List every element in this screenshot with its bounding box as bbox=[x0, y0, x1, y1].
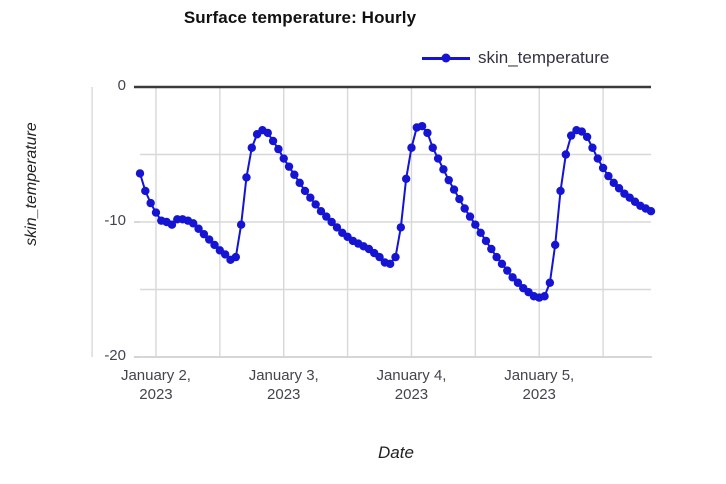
x-tick-label-line: January 5, bbox=[484, 366, 594, 385]
data-point-marker[interactable] bbox=[599, 164, 607, 172]
data-point-marker[interactable] bbox=[397, 223, 405, 231]
x-tick-label-line: January 4, bbox=[356, 366, 466, 385]
data-point-marker[interactable] bbox=[498, 260, 506, 268]
data-point-marker[interactable] bbox=[429, 144, 437, 152]
data-point-marker[interactable] bbox=[237, 221, 245, 229]
data-point-marker[interactable] bbox=[551, 241, 559, 249]
data-point-marker[interactable] bbox=[556, 187, 564, 195]
chart-figure: Surface temperature: Hourly skin_tempera… bbox=[0, 0, 726, 484]
data-point-marker[interactable] bbox=[604, 172, 612, 180]
y-tick-label: 0 bbox=[72, 77, 126, 94]
data-point-marker[interactable] bbox=[439, 165, 447, 173]
data-point-marker[interactable] bbox=[141, 187, 149, 195]
plot-area bbox=[0, 0, 726, 484]
x-tick-label-line: January 3, bbox=[229, 366, 339, 385]
data-point-marker[interactable] bbox=[476, 229, 484, 237]
data-point-marker[interactable] bbox=[546, 279, 554, 287]
x-tick-label: January 5,2023 bbox=[484, 366, 594, 404]
data-point-marker[interactable] bbox=[647, 207, 655, 215]
data-point-marker[interactable] bbox=[248, 144, 256, 152]
data-point-marker[interactable] bbox=[471, 221, 479, 229]
data-point-marker[interactable] bbox=[562, 150, 570, 158]
data-point-marker[interactable] bbox=[434, 154, 442, 162]
data-point-marker[interactable] bbox=[152, 208, 160, 216]
series-line bbox=[140, 126, 651, 297]
data-point-marker[interactable] bbox=[269, 137, 277, 145]
data-point-marker[interactable] bbox=[285, 162, 293, 170]
data-point-marker[interactable] bbox=[391, 253, 399, 261]
x-tick-label-line: 2023 bbox=[101, 385, 211, 404]
data-point-marker[interactable] bbox=[423, 129, 431, 137]
x-tick-label-line: 2023 bbox=[356, 385, 466, 404]
data-point-marker[interactable] bbox=[588, 144, 596, 152]
x-tick-label-line: 2023 bbox=[229, 385, 339, 404]
data-point-marker[interactable] bbox=[274, 145, 282, 153]
data-point-marker[interactable] bbox=[306, 194, 314, 202]
data-point-marker[interactable] bbox=[407, 144, 415, 152]
x-tick-label: January 2,2023 bbox=[101, 366, 211, 404]
data-point-marker[interactable] bbox=[301, 187, 309, 195]
data-point-marker[interactable] bbox=[503, 266, 511, 274]
x-tick-label-line: 2023 bbox=[484, 385, 594, 404]
data-point-marker[interactable] bbox=[594, 154, 602, 162]
data-point-marker[interactable] bbox=[455, 195, 463, 203]
data-point-marker[interactable] bbox=[450, 185, 458, 193]
series-skin-temperature bbox=[136, 122, 655, 302]
data-point-marker[interactable] bbox=[242, 173, 250, 181]
data-point-marker[interactable] bbox=[487, 245, 495, 253]
x-tick-label: January 4,2023 bbox=[356, 366, 466, 404]
y-tick-label: -20 bbox=[72, 347, 126, 364]
data-point-marker[interactable] bbox=[290, 171, 298, 179]
data-point-marker[interactable] bbox=[232, 253, 240, 261]
data-point-marker[interactable] bbox=[136, 169, 144, 177]
data-point-marker[interactable] bbox=[466, 212, 474, 220]
y-tick-label: -10 bbox=[72, 212, 126, 229]
data-point-marker[interactable] bbox=[386, 260, 394, 268]
x-tick-label: January 3,2023 bbox=[229, 366, 339, 404]
data-point-marker[interactable] bbox=[146, 199, 154, 207]
x-axis-title: Date bbox=[140, 443, 652, 463]
data-point-marker[interactable] bbox=[445, 176, 453, 184]
data-point-marker[interactable] bbox=[280, 154, 288, 162]
data-point-marker[interactable] bbox=[402, 175, 410, 183]
y-axis-title: skin_temperature bbox=[23, 104, 41, 264]
data-point-marker[interactable] bbox=[264, 129, 272, 137]
data-point-marker[interactable] bbox=[311, 200, 319, 208]
data-point-marker[interactable] bbox=[461, 204, 469, 212]
data-point-marker[interactable] bbox=[482, 237, 490, 245]
data-point-marker[interactable] bbox=[583, 133, 591, 141]
data-point-marker[interactable] bbox=[295, 179, 303, 187]
x-tick-label-line: January 2, bbox=[101, 366, 211, 385]
data-point-marker[interactable] bbox=[418, 122, 426, 130]
data-point-marker[interactable] bbox=[492, 253, 500, 261]
data-point-marker[interactable] bbox=[540, 292, 548, 300]
